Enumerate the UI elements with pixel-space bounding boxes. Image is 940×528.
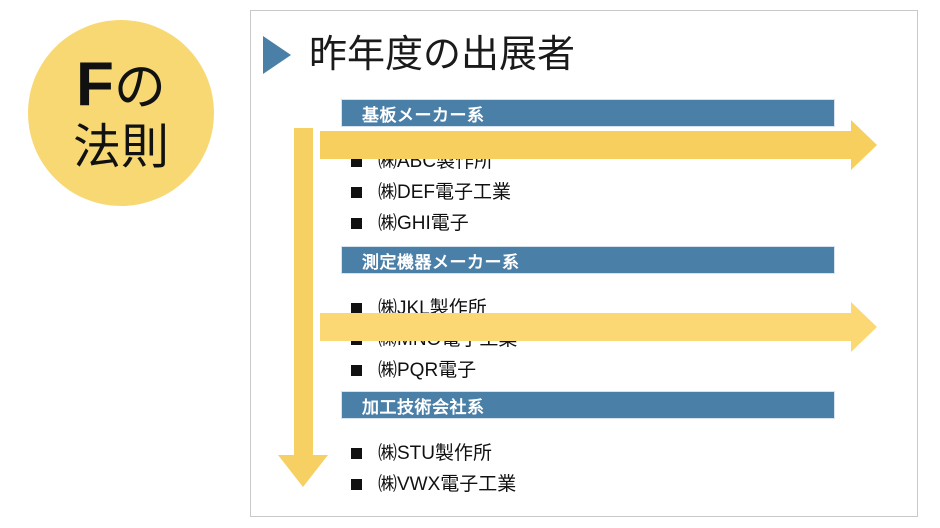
group-header-1: 基板メーカー系 <box>341 99 835 127</box>
list-item-label: ㈱MNO電子工業 <box>378 330 517 349</box>
slide-canvas: 昨年度の出展者 基板メーカー系 ㈱ABC製作所 ㈱DEF電子工業 ㈱GHI電子 … <box>250 10 918 517</box>
badge-letter-f: F <box>76 50 114 119</box>
list-item-label: ㈱DEF電子工業 <box>378 183 511 202</box>
square-bullet-icon <box>351 187 362 198</box>
f-rule-badge: Fの 法則 <box>28 20 214 206</box>
group-header-label: 基板メーカー系 <box>362 101 485 126</box>
list-item-label: ㈱VWX電子工業 <box>378 475 516 494</box>
list-item-label: ㈱JKL製作所 <box>378 299 487 318</box>
square-bullet-icon <box>351 156 362 167</box>
list-item-label: ㈱STU製作所 <box>378 444 492 463</box>
list-item: ㈱STU製作所 <box>351 441 492 465</box>
badge-particle-no: の <box>114 59 166 117</box>
list-item-label: ㈱GHI電子 <box>378 214 469 233</box>
square-bullet-icon <box>351 218 362 229</box>
list-item: ㈱MNO電子工業 <box>351 327 517 351</box>
page-title: 昨年度の出展者 <box>309 36 575 74</box>
list-item-label: ㈱ABC製作所 <box>378 152 493 171</box>
group-header-3: 加工技術会社系 <box>341 391 835 419</box>
list-item: ㈱ABC製作所 <box>351 149 493 173</box>
list-item-last: ㈱VWX電子工業 <box>351 472 516 496</box>
square-bullet-icon <box>351 334 362 345</box>
list-item: ㈱DEF電子工業 <box>351 180 511 204</box>
badge-line-one: Fの <box>76 54 166 116</box>
list-item: ㈱PQR電子 <box>351 358 476 382</box>
group-header-label: 加工技術会社系 <box>362 393 485 418</box>
group-header-2: 測定機器メーカー系 <box>341 246 835 274</box>
list-item: ㈱GHI電子 <box>351 211 469 235</box>
list-item-label: ㈱PQR電子 <box>378 361 476 380</box>
list-item: ㈱JKL製作所 <box>351 296 487 320</box>
square-bullet-icon <box>351 479 362 490</box>
triangle-right-icon <box>263 36 291 74</box>
square-bullet-icon <box>351 365 362 376</box>
badge-line-two: 法則 <box>73 124 169 172</box>
square-bullet-icon <box>351 448 362 459</box>
group-header-label: 測定機器メーカー系 <box>362 248 520 273</box>
square-bullet-icon <box>351 303 362 314</box>
slide-title-row: 昨年度の出展者 <box>263 36 575 74</box>
